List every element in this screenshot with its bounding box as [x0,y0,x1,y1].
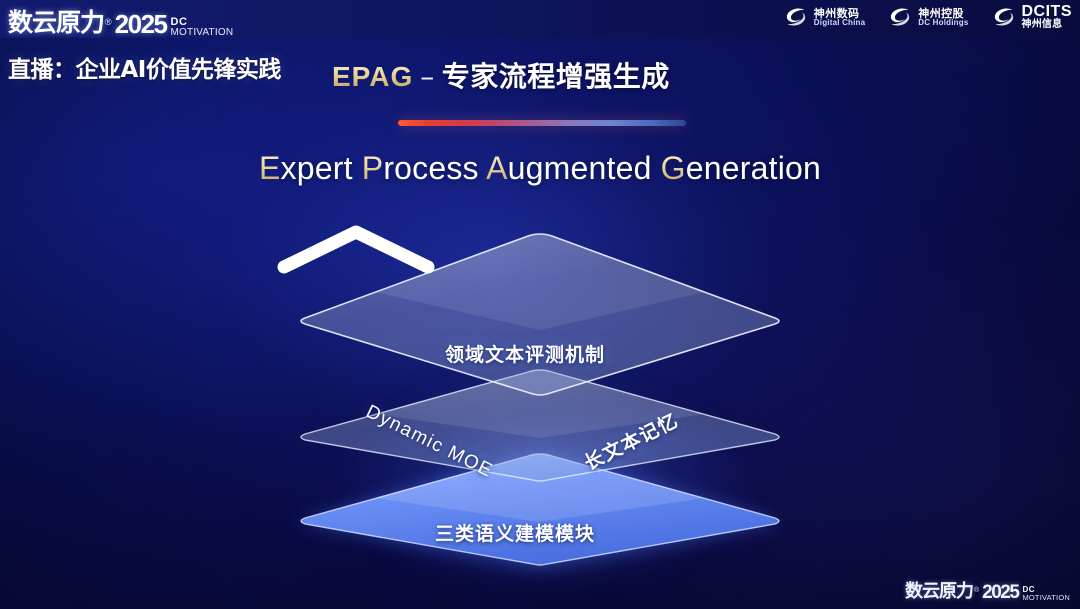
partner-logo-dc-holdings: 神州控股 DC Holdings [887,4,968,30]
title-acronym: EPAG [332,61,413,92]
partner-logo-dcits: DCITS 神州信息 [991,4,1073,31]
partner-text: 神州数码 Digital China [814,8,866,27]
page-title: EPAG–专家流程增强生成 [332,55,670,95]
watermark-registered-mark: ® [974,587,979,594]
partner-name-en: DC Holdings [918,19,968,27]
partner-text: DCITS 神州信息 [1022,4,1073,31]
swirl-icon [991,4,1017,30]
subtitle-rest-expert: xpert [281,150,353,186]
partner-name-en: Digital China [814,19,866,27]
watermark-dc-block: DC MOTIVATION [1022,586,1070,601]
subtitle-cap-g: G [661,150,686,186]
brand-dc-block: DC MOTIVATION [171,17,234,37]
subtitle-space-3 [652,150,661,186]
partner-name-cn: DCITS [1022,4,1073,20]
page-subtitle: Expert Process Augmented Generation [0,150,1080,187]
swirl-icon [887,4,913,30]
layered-diagram: Dynamic MOE 长文本记忆 领域文本评测机制 [275,222,805,577]
title-dash: – [420,60,435,93]
subtitle-rest-process: rocess [383,150,478,186]
brand-name-cn: 数云原力 [8,3,104,39]
brand-registered-mark: ® [105,17,112,27]
title-chinese: 专家流程增强生成 [442,60,670,93]
subtitle-space-1 [353,150,362,186]
subtitle-space-2 [479,150,486,186]
subtitle-cap-a: A [486,150,508,186]
partner-name-en: 神州信息 [1022,20,1073,30]
live-stream-title: 直播：企业AI价值先锋实践 [8,50,281,84]
watermark-year: 2025 [982,582,1018,604]
slide-canvas: 数云原力 ® 2025 DC MOTIVATION 直播：企业AI价值先锋实践 … [0,0,1080,609]
partner-logo-digital-china: 神州数码 Digital China [783,4,866,30]
partner-logos: 神州数码 Digital China 神州控股 DC Holdings DCIT… [783,4,1072,31]
brand-dc-label: DC [171,17,234,27]
swirl-icon [783,4,809,30]
subtitle-rest-augmented: ugmented [508,150,652,186]
watermark-motivation-label: MOTIVATION [1022,594,1070,601]
layer-label-three-semantic-modules: 三类语义建模模块 [435,519,595,546]
subtitle-rest-generation: eneration [686,150,821,186]
gradient-divider [398,120,686,126]
watermark-name-cn: 数云原力 [905,577,973,603]
brand-motivation-label: MOTIVATION [171,28,234,38]
partner-text: 神州控股 DC Holdings [918,8,968,27]
diagram-layer-bottom-label-holder: 三类语义建模模块 [275,222,805,577]
subtitle-cap-p: P [362,150,384,186]
brand-year: 2025 [115,9,167,40]
footer-brand-watermark: 数云原力 ® 2025 DC MOTIVATION [905,577,1070,603]
subtitle-cap-e: E [259,150,281,186]
brand-logo: 数云原力 ® 2025 DC MOTIVATION [8,3,233,39]
